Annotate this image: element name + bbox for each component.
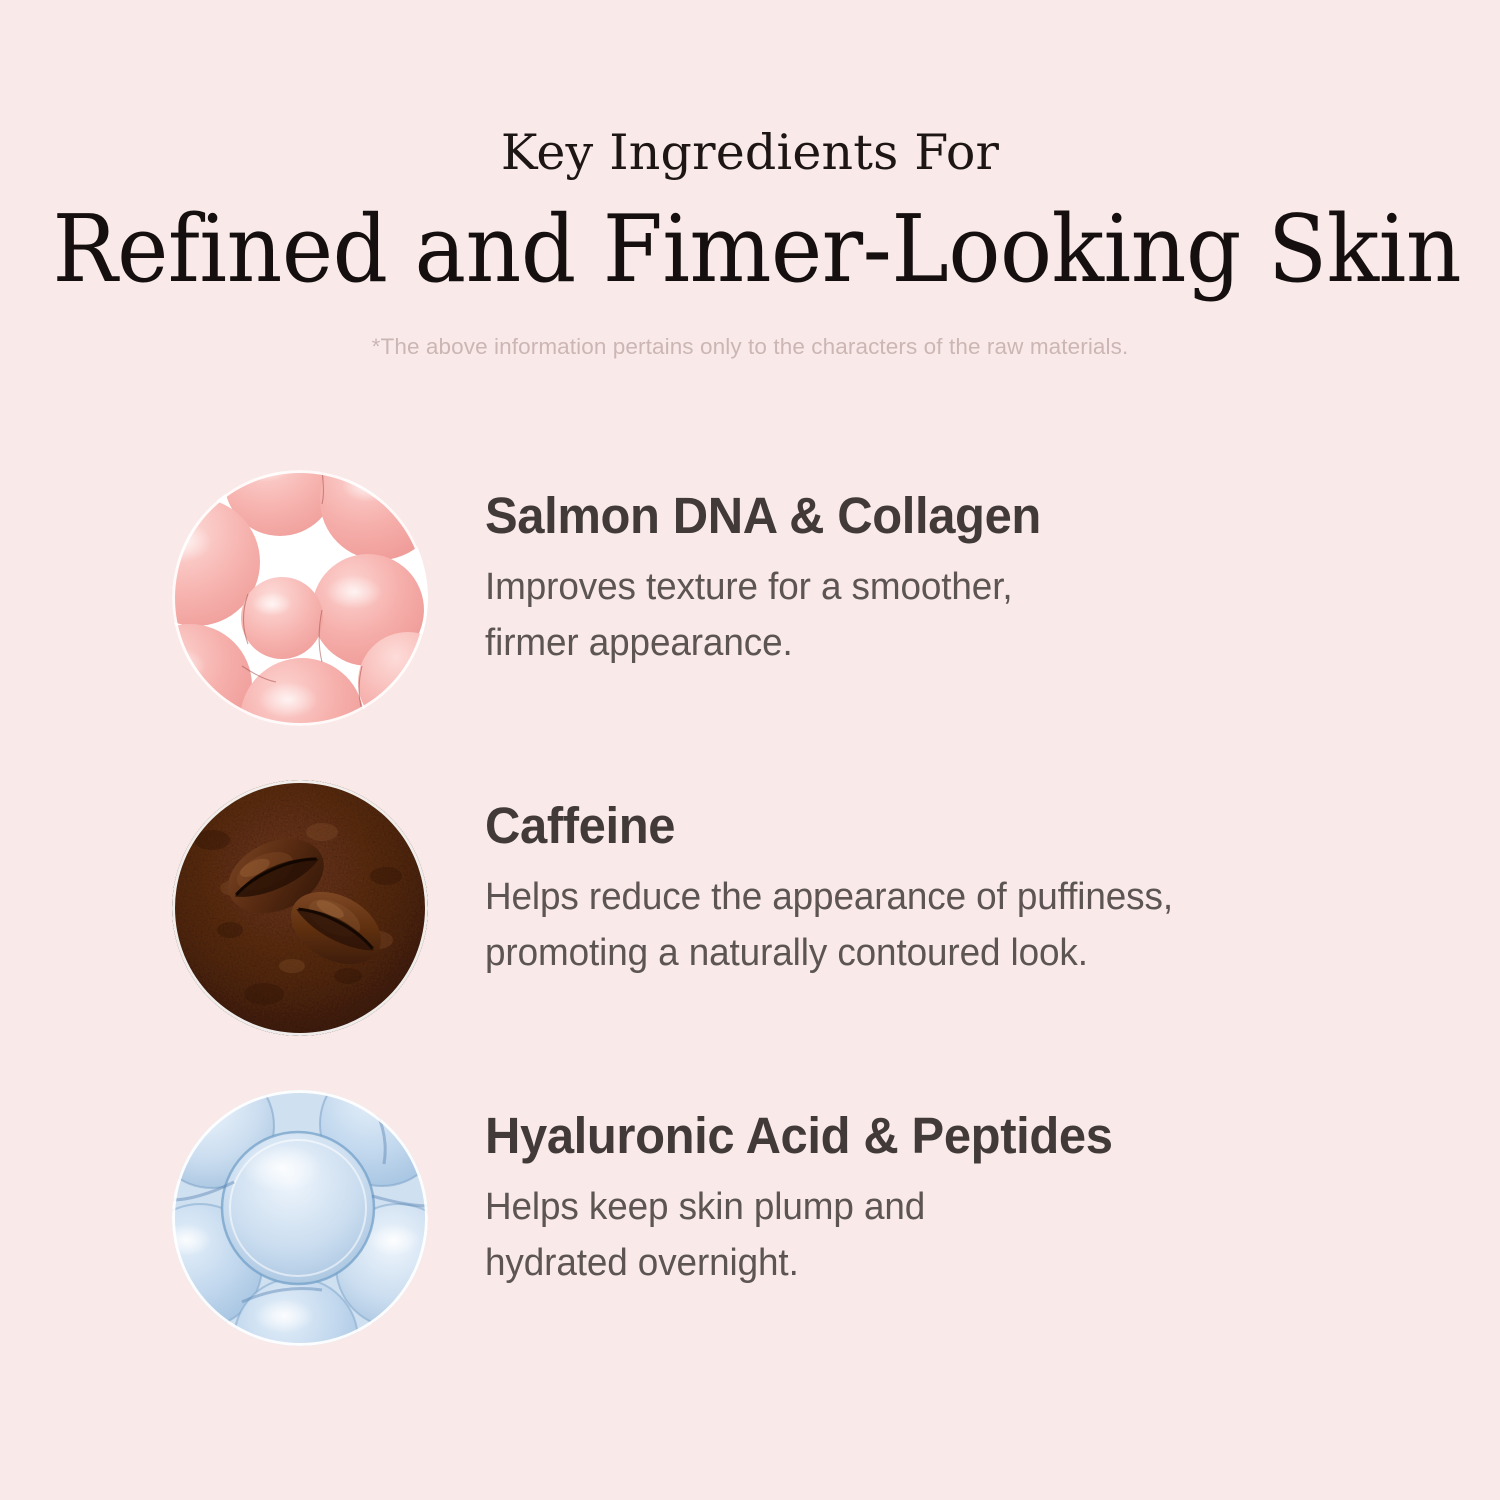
ingredient-description-line: Helps reduce the appearance of puffiness… [485, 869, 1416, 925]
ingredient-title: Salmon DNA & Collagen [485, 488, 1407, 543]
ingredient-description-line: Helps keep skin plump and [485, 1179, 1416, 1235]
ingredients-infographic: Key Ingredients For Refined and Fimer-Lo… [0, 0, 1500, 1500]
disclaimer-text: *The above information pertains only to … [0, 299, 1500, 360]
ingredient-text: Salmon DNA & Collagen Improves texture f… [485, 488, 1445, 672]
ingredient-title: Hyaluronic Acid & Peptides [485, 1108, 1407, 1163]
ingredient-description: Helps keep skin plump and hydrated overn… [485, 1163, 1416, 1291]
list-item: Caffeine Helps reduce the appearance of … [0, 780, 1500, 1090]
ingredient-description-line: firmer appearance. [485, 615, 1416, 671]
ingredient-description-line: promoting a naturally contoured look. [485, 925, 1416, 981]
ingredient-description: Helps reduce the appearance of puffiness… [485, 853, 1416, 981]
ingredient-description: Improves texture for a smoother, firmer … [485, 543, 1416, 671]
eyebrow-text: Key Ingredients For [0, 0, 1500, 177]
coffee-grounds-image [172, 780, 428, 1036]
pink-spheres-image [172, 470, 428, 726]
ingredient-description-line: hydrated overnight. [485, 1235, 1416, 1291]
ingredient-text: Caffeine Helps reduce the appearance of … [485, 798, 1445, 982]
ingredient-title: Caffeine [485, 798, 1407, 853]
ingredient-list: Salmon DNA & Collagen Improves texture f… [0, 470, 1500, 1400]
page-title: Refined and Fimer-Looking Skin [53, 177, 1448, 299]
blue-spheres-image [172, 1090, 428, 1346]
ingredient-description-line: Improves texture for a smoother, [485, 559, 1416, 615]
list-item: Hyaluronic Acid & Peptides Helps keep sk… [0, 1090, 1500, 1400]
list-item: Salmon DNA & Collagen Improves texture f… [0, 470, 1500, 780]
header: Key Ingredients For Refined and Fimer-Lo… [0, 0, 1500, 360]
ingredient-text: Hyaluronic Acid & Peptides Helps keep sk… [485, 1108, 1445, 1292]
